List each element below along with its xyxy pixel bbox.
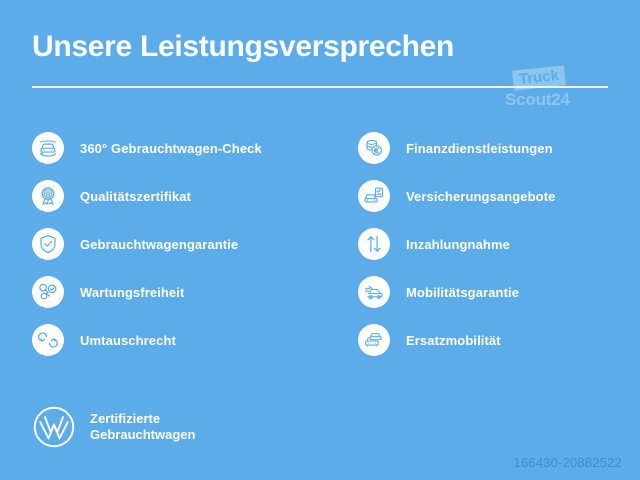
truckscout24-watermark-logo: Truck Scout24: [505, 68, 600, 116]
feature-item-360-check: 360° Gebrauchtwagen-Check: [32, 124, 322, 172]
vw-brand-line2: Gebrauchtwagen: [90, 427, 195, 443]
feature-item-versicherungsangebote: Versicherungsangebote: [358, 172, 640, 220]
wrench-check-icon: [32, 276, 64, 308]
feature-label: Umtauschrecht: [80, 333, 176, 348]
car-tow-icon: [358, 276, 390, 308]
feature-item-gebrauchtwagengarantie: Gebrauchtwagengarantie: [32, 220, 322, 268]
feature-item-ersatzmobilitaet: Ersatzmobilität: [358, 316, 640, 364]
feature-item-umtauschrecht: Umtauschrecht: [32, 316, 322, 364]
feature-label: Qualitätszertifikat: [80, 189, 191, 204]
vw-brand-text: Zertifizierte Gebrauchtwagen: [90, 411, 195, 443]
vw-brand-line1: Zertifizierte: [90, 411, 195, 427]
feature-label: Inzahlungnahme: [406, 237, 510, 252]
quality-rosette-icon: [32, 180, 64, 212]
feature-label: 360° Gebrauchtwagen-Check: [80, 141, 262, 156]
feature-column-right: Finanzdienstleistungen Versicherungsange…: [358, 124, 640, 364]
exchange-arrows-icon: [32, 324, 64, 356]
feature-column-left: 360° Gebrauchtwagen-Check Qualitätszerti…: [32, 124, 322, 364]
feature-label: Gebrauchtwagengarantie: [80, 237, 238, 252]
two-cars-icon: [358, 324, 390, 356]
coins-euro-icon: [358, 132, 390, 164]
feature-label: Finanzdienstleistungen: [406, 141, 553, 156]
feature-item-wartungsfreiheit: Wartungsfreiheit: [32, 268, 322, 316]
car-document-check-icon: [358, 180, 390, 212]
feature-label: Wartungsfreiheit: [80, 285, 184, 300]
feature-label: Versicherungsangebote: [406, 189, 555, 204]
feature-item-qualitaetszertifikat: Qualitätszertifikat: [32, 172, 322, 220]
car-360-check-icon: [32, 132, 64, 164]
vw-brand-block: Zertifizierte Gebrauchtwagen: [32, 405, 195, 449]
feature-label: Mobilitätsgarantie: [406, 285, 519, 300]
feature-item-finanzdienstleistungen: Finanzdienstleistungen: [358, 124, 640, 172]
page-title: Unsere Leistungsversprechen: [32, 30, 454, 64]
shield-check-icon: [32, 228, 64, 260]
up-down-arrows-icon: [358, 228, 390, 260]
listing-id: 166430-20882522: [513, 455, 622, 470]
vw-logo-icon: [32, 405, 76, 449]
feature-label: Ersatzmobilität: [406, 333, 501, 348]
title-divider: [32, 86, 608, 88]
feature-item-mobilitaetsgarantie: Mobilitätsgarantie: [358, 268, 640, 316]
feature-item-inzahlungnahme: Inzahlungnahme: [358, 220, 640, 268]
watermark-scout24-text: Scout24: [505, 90, 570, 110]
